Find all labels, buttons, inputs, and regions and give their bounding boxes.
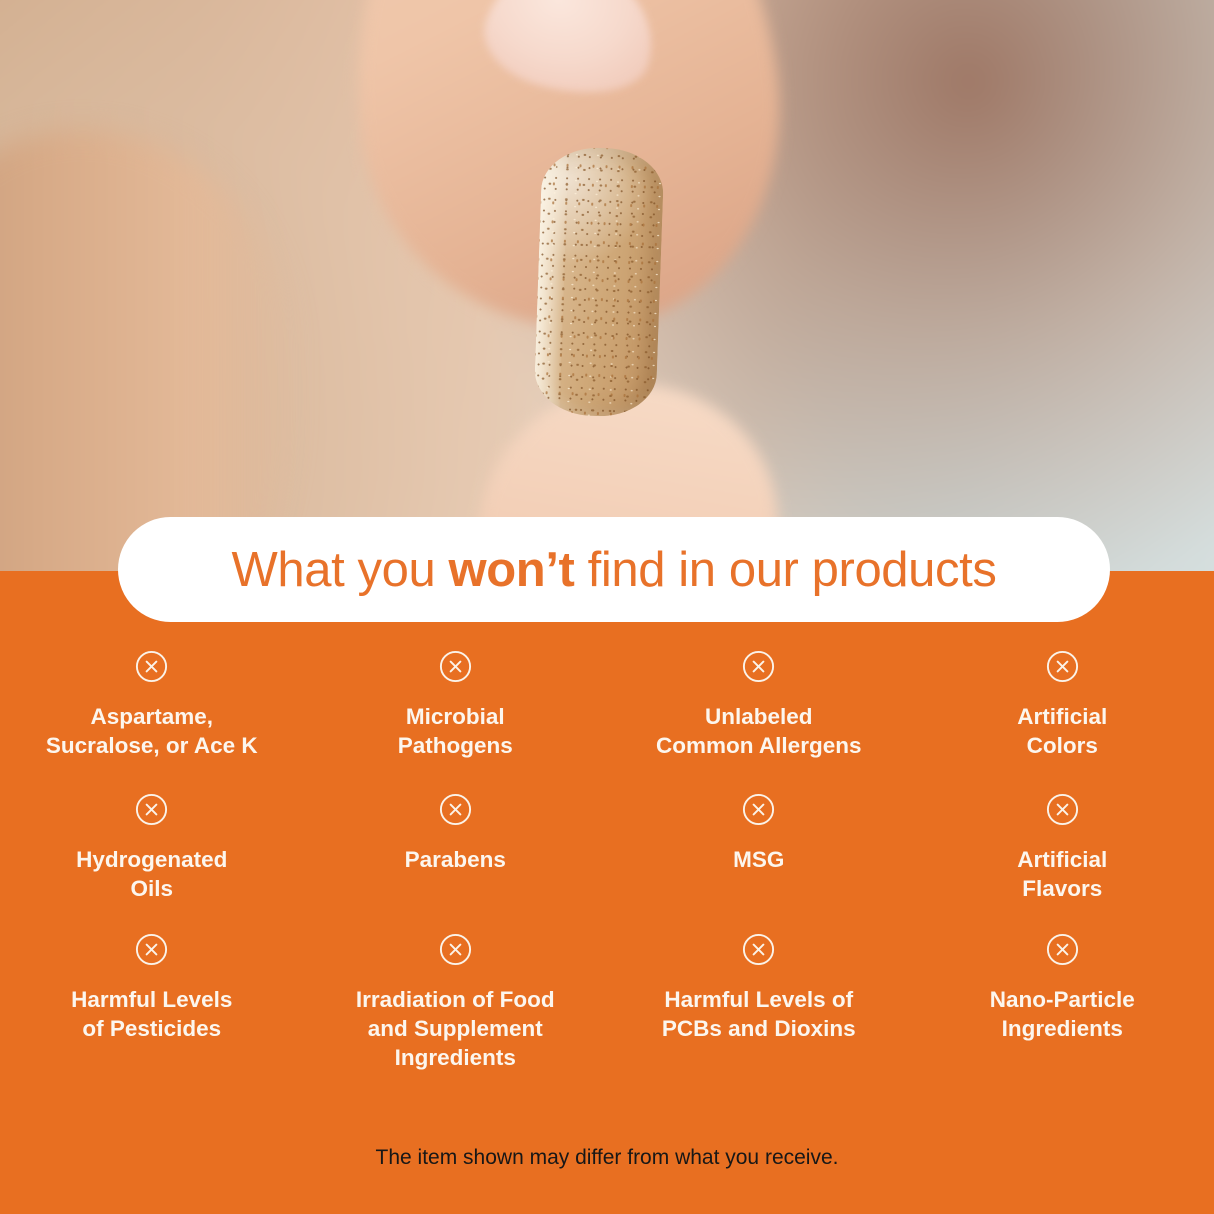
circle-x-icon bbox=[1046, 933, 1079, 966]
grid-item: Aspartame,Sucralose, or Ace K bbox=[0, 650, 304, 793]
grid-item-label: MSG bbox=[733, 845, 784, 874]
grid-item-label: Irradiation of Foodand SupplementIngredi… bbox=[356, 985, 555, 1072]
grid-item: MicrobialPathogens bbox=[304, 650, 608, 793]
headline-before: What you bbox=[232, 543, 449, 597]
circle-x-icon bbox=[439, 933, 472, 966]
grid-item-label: ArtificialFlavors bbox=[1017, 845, 1107, 903]
headline-pill: What you won’t find in our products bbox=[118, 517, 1110, 622]
headline-emphasis: won’t bbox=[449, 543, 575, 597]
grid-item: Nano-ParticleIngredients bbox=[911, 933, 1214, 1083]
circle-x-icon bbox=[1046, 650, 1079, 683]
grid-item-label: Aspartame,Sucralose, or Ace K bbox=[46, 702, 258, 760]
circle-x-icon bbox=[742, 650, 775, 683]
grid-item: HydrogenatedOils bbox=[0, 793, 304, 933]
grid-item-label: ArtificialColors bbox=[1017, 702, 1107, 760]
grid-item: Harmful Levels ofPCBs and Dioxins bbox=[607, 933, 911, 1083]
circle-x-icon bbox=[1046, 793, 1079, 826]
grid-item-label: Harmful Levels ofPCBs and Dioxins bbox=[662, 985, 856, 1043]
circle-x-icon bbox=[742, 933, 775, 966]
grid-item-label: UnlabeledCommon Allergens bbox=[656, 702, 861, 760]
product-infographic: What you won’t find in our products Aspa… bbox=[0, 0, 1214, 1214]
grid-item: ArtificialFlavors bbox=[911, 793, 1214, 933]
grid-item: MSG bbox=[607, 793, 911, 933]
grid-item: UnlabeledCommon Allergens bbox=[607, 650, 911, 793]
grid-row: HydrogenatedOils Parabens MSG Artificial… bbox=[0, 793, 1214, 933]
disclaimer-text: The item shown may differ from what you … bbox=[0, 1146, 1214, 1170]
grid-row: Aspartame,Sucralose, or Ace K MicrobialP… bbox=[0, 650, 1214, 793]
page-title: What you won’t find in our products bbox=[232, 542, 997, 598]
excluded-ingredients-grid: Aspartame,Sucralose, or Ace K MicrobialP… bbox=[0, 650, 1214, 1083]
grid-item: Irradiation of Foodand SupplementIngredi… bbox=[304, 933, 608, 1083]
supplement-tablet bbox=[533, 146, 664, 418]
grid-item: Harmful Levelsof Pesticides bbox=[0, 933, 304, 1083]
grid-item-label: Harmful Levelsof Pesticides bbox=[71, 985, 232, 1043]
circle-x-icon bbox=[742, 793, 775, 826]
grid-item-label: Parabens bbox=[405, 845, 506, 874]
grid-item-label: MicrobialPathogens bbox=[398, 702, 513, 760]
grid-item-label: HydrogenatedOils bbox=[76, 845, 227, 903]
circle-x-icon bbox=[135, 650, 168, 683]
headline-after: find in our products bbox=[574, 543, 996, 597]
circle-x-icon bbox=[135, 793, 168, 826]
tablet-speckle-texture bbox=[533, 146, 664, 418]
circle-x-icon bbox=[439, 793, 472, 826]
product-photo bbox=[0, 0, 1214, 600]
grid-item: Parabens bbox=[304, 793, 608, 933]
grid-row: Harmful Levelsof Pesticides Irradiation … bbox=[0, 933, 1214, 1083]
grid-item-label: Nano-ParticleIngredients bbox=[990, 985, 1135, 1043]
grid-item: ArtificialColors bbox=[911, 650, 1214, 793]
circle-x-icon bbox=[439, 650, 472, 683]
circle-x-icon bbox=[135, 933, 168, 966]
